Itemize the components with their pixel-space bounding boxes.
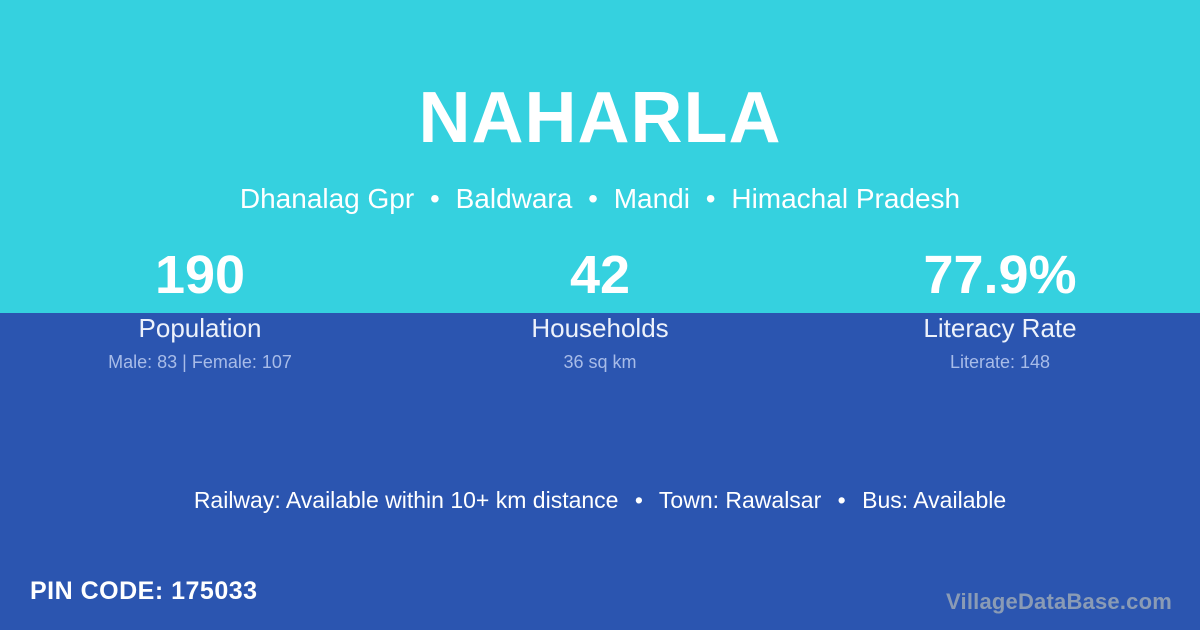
breadcrumb-item-state: Himachal Pradesh [731,183,960,214]
stat-value-population: 190 [0,246,400,308]
stat-block-households: 42 Households 36 sq km [400,246,800,374]
stat-value-households: 42 [400,246,800,308]
stat-value-literacy-rate: 77.9% [800,246,1200,308]
breadcrumb-separator: • [698,183,724,214]
breadcrumb-item-block: Baldwara [456,183,573,214]
breadcrumb-separator: • [580,183,606,214]
amenity-separator: • [625,487,653,513]
amenity-town: Town: Rawalsar [659,487,821,513]
card-content: NAHARLA Dhanalag Gpr • Baldwara • Mandi … [0,0,1200,630]
site-watermark: VillageDataBase.com [946,589,1172,615]
stats-row: 190 Population Male: 83 | Female: 107 42… [0,246,1200,374]
stat-block-population: 190 Population Male: 83 | Female: 107 [0,246,400,374]
breadcrumb: Dhanalag Gpr • Baldwara • Mandi • Himach… [0,182,1200,216]
stat-label-population: Population [0,312,400,344]
amenities-row: Railway: Available within 10+ km distanc… [0,485,1200,515]
stat-block-literacy-rate: 77.9% Literacy Rate Literate: 148 [800,246,1200,374]
amenity-bus: Bus: Available [862,487,1006,513]
amenity-railway: Railway: Available within 10+ km distanc… [194,487,619,513]
breadcrumb-item-gram-panchayat: Dhanalag Gpr [240,183,414,214]
stat-sub-households: 36 sq km [400,350,800,374]
amenity-separator: • [828,487,856,513]
stat-label-literacy-rate: Literacy Rate [800,312,1200,344]
breadcrumb-item-district: Mandi [614,183,690,214]
page-title: NAHARLA [0,82,1200,154]
stat-sub-population: Male: 83 | Female: 107 [0,350,400,374]
pin-code: PIN CODE: 175033 [30,576,258,606]
stat-label-households: Households [400,312,800,344]
breadcrumb-separator: • [422,183,448,214]
village-info-card: NAHARLA Dhanalag Gpr • Baldwara • Mandi … [0,0,1200,630]
stat-sub-literacy-rate: Literate: 148 [800,350,1200,374]
